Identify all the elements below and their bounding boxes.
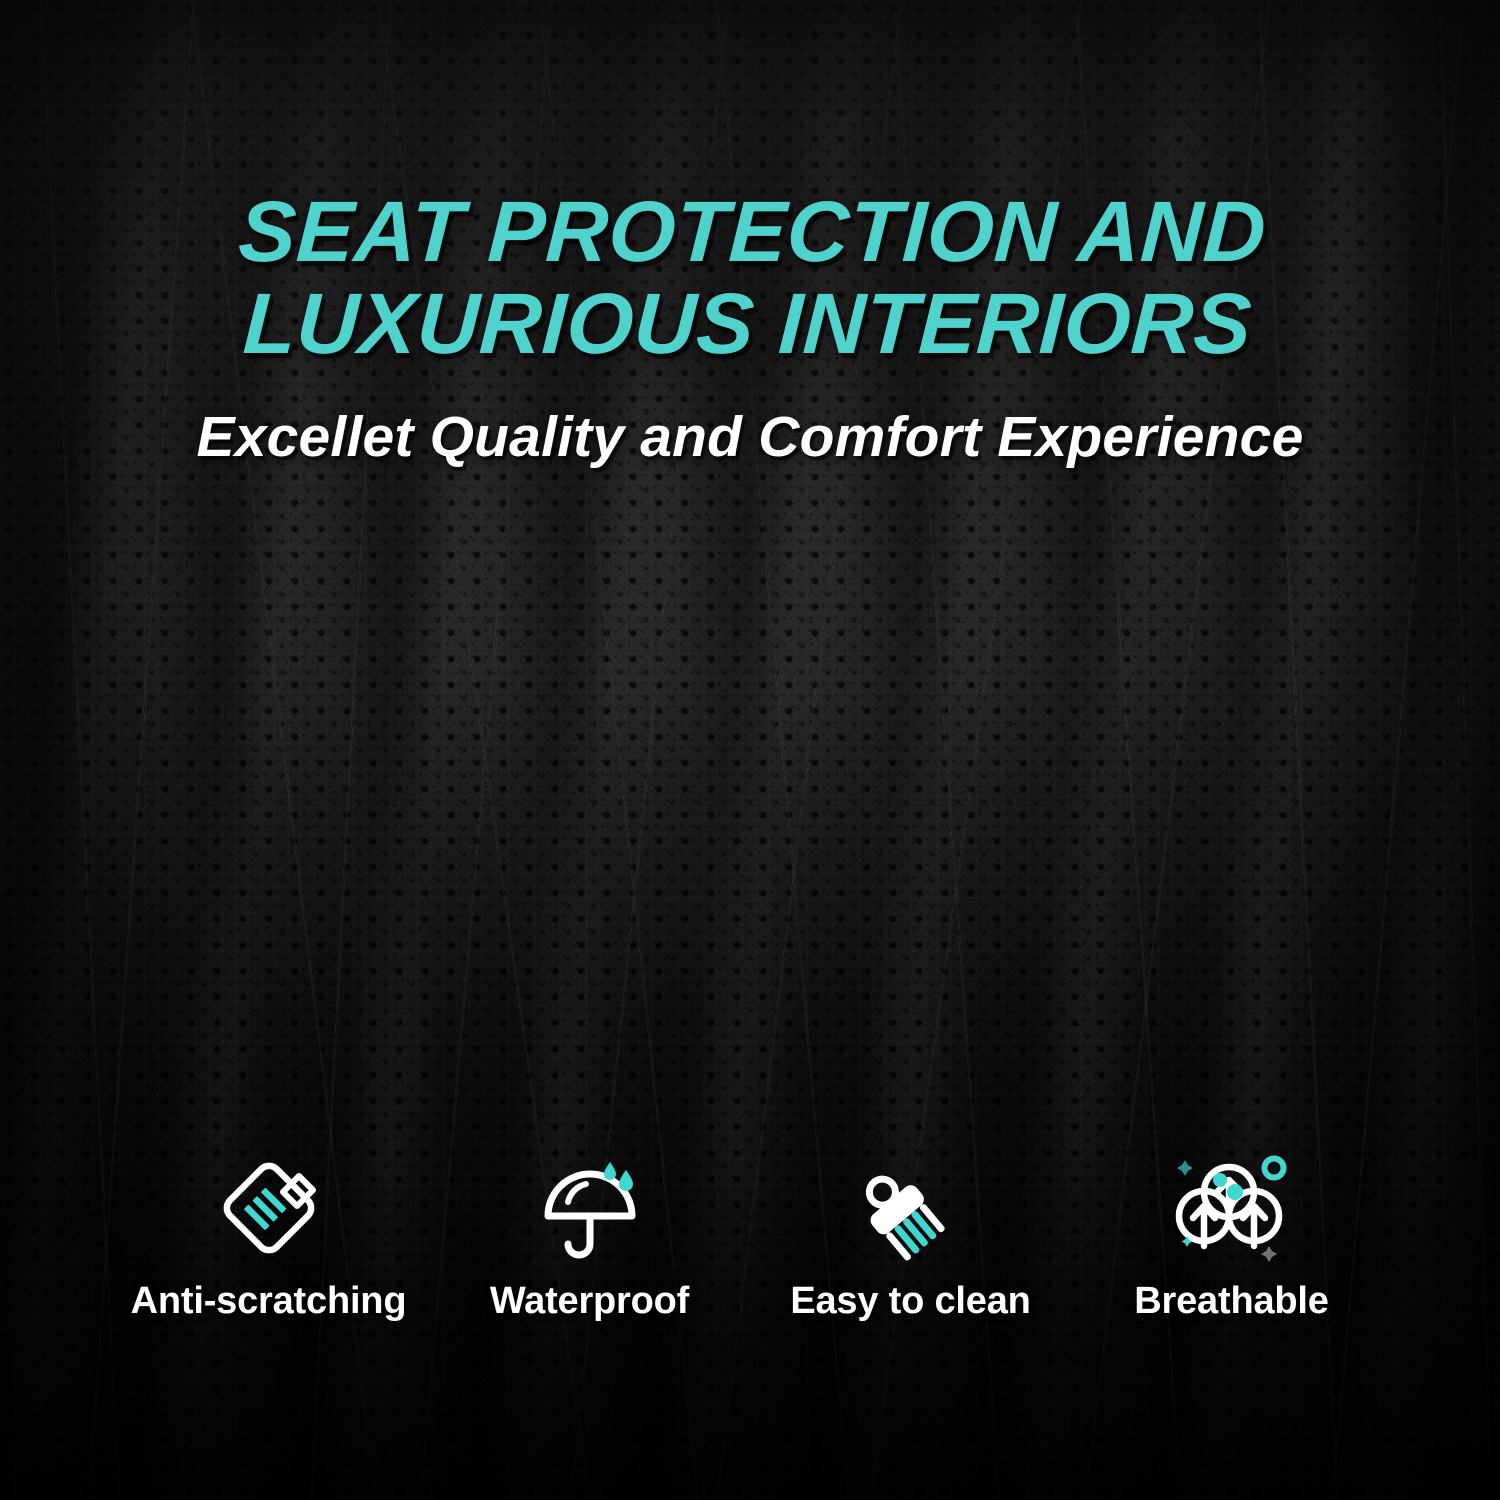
feature-list: Anti-scratching Waterproof — [108, 1150, 1392, 1323]
feature-item-easy-to-clean: Easy to clean — [750, 1150, 1071, 1323]
feature-label: Waterproof — [490, 1280, 689, 1323]
headline-line-2: LUXURIOUS INTERIORS — [0, 278, 1500, 370]
feature-label: Easy to clean — [790, 1280, 1030, 1323]
umbrella-raindrops-icon — [534, 1150, 646, 1262]
cleaning-brush-icon — [855, 1150, 967, 1262]
product-feature-banner: SEAT PROTECTION AND LUXURIOUS INTERIORS … — [0, 0, 1500, 1500]
feature-item-waterproof: Waterproof — [429, 1150, 750, 1323]
feature-label: Breathable — [1134, 1280, 1328, 1323]
headline-line-1: SEAT PROTECTION AND — [236, 184, 1268, 280]
subheadline: Excellet Quality and Comfort Experience — [0, 404, 1500, 470]
anti-scratch-diamond-blade-icon — [213, 1150, 325, 1262]
breathable-clouds-arrows-icon — [1173, 1150, 1291, 1262]
feature-item-breathable: Breathable — [1071, 1150, 1392, 1323]
headline: SEAT PROTECTION AND LUXURIOUS INTERIORS — [0, 186, 1500, 370]
feature-item-anti-scratching: Anti-scratching — [108, 1150, 429, 1323]
feature-label: Anti-scratching — [131, 1280, 407, 1323]
